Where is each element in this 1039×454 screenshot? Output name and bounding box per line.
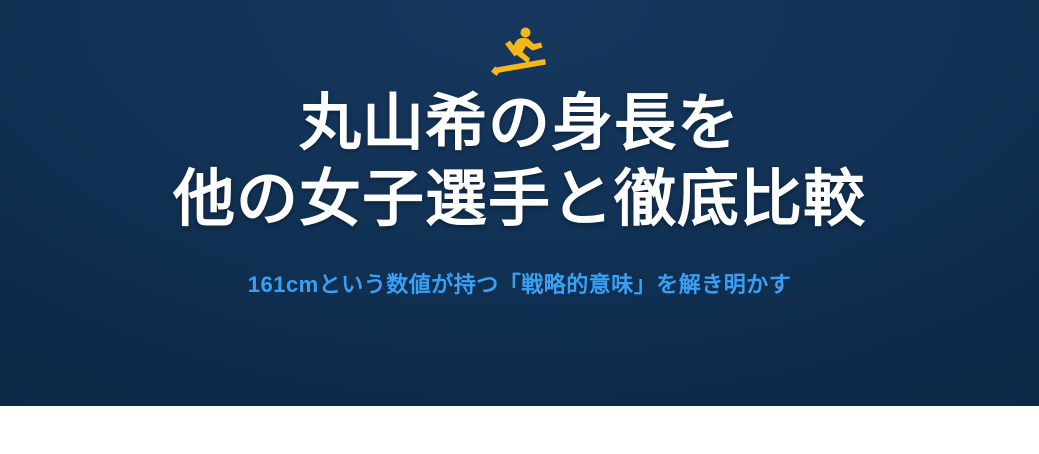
- hero-bottom-strip: [0, 406, 1039, 430]
- hero-title-line-2: 他の女子選手と徹底比較: [0, 162, 1039, 238]
- skier-icon: [485, 26, 555, 80]
- hero-banner: 丸山希の身長を 他の女子選手と徹底比較 161cmという数値が持つ「戦略的意味」…: [0, 0, 1039, 430]
- hero-subtitle: 161cmという数値が持つ「戦略的意味」を解き明かす: [248, 267, 792, 299]
- hero-title: 丸山希の身長を 他の女子選手と徹底比較: [0, 86, 1039, 237]
- hero-title-line-1: 丸山希の身長を: [0, 86, 1039, 162]
